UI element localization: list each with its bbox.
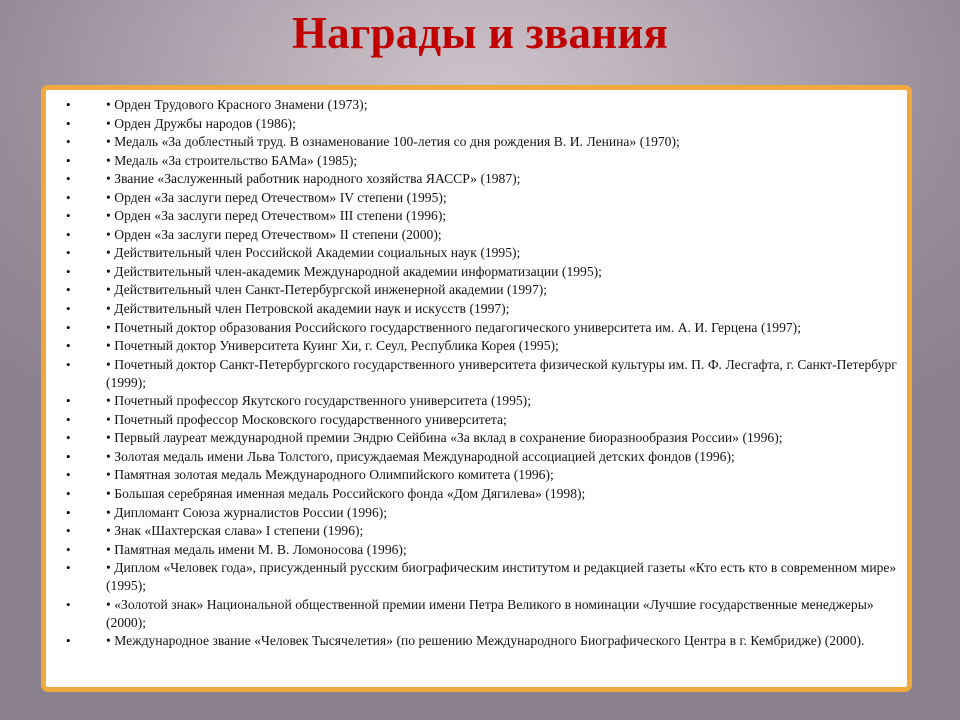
bullet-marker-icon: •: [66, 448, 76, 466]
list-item-text: • Почетный доктор Санкт-Петербургского г…: [106, 356, 901, 392]
list-item-text: • Орден Дружбы народов (1986);: [106, 115, 901, 133]
bullet-marker-icon: •: [66, 319, 76, 337]
list-item-text: • Орден «За заслуги перед Отечеством» II…: [106, 226, 901, 244]
bullet-marker-icon: •: [66, 281, 76, 299]
list-item: •• Памятная медаль имени М. В. Ломоносов…: [54, 541, 901, 559]
list-item-text: • Диплом «Человек года», присужденный ру…: [106, 559, 901, 595]
list-item-text: • Действительный член Санкт-Петербургско…: [106, 281, 901, 299]
bullet-marker-icon: •: [66, 152, 76, 170]
bullet-marker-icon: •: [66, 466, 76, 484]
list-item: •• Медаль «За строительство БАМа» (1985)…: [54, 152, 901, 170]
list-item: •• Действительный член Российской Академ…: [54, 244, 901, 262]
list-item: •• Действительный член-академик Междунар…: [54, 263, 901, 281]
bullet-marker-icon: •: [66, 263, 76, 281]
list-item-text: • Орден «За заслуги перед Отечеством» II…: [106, 207, 901, 225]
list-item-text: • Золотая медаль имени Льва Толстого, пр…: [106, 448, 901, 466]
bullet-marker-icon: •: [66, 189, 76, 207]
list-item: •• Большая серебряная именная медаль Рос…: [54, 485, 901, 503]
list-item: •• Дипломант Союза журналистов России (1…: [54, 504, 901, 522]
list-item-text: • Действительный член Петровской академи…: [106, 300, 901, 318]
bullet-marker-icon: •: [66, 504, 76, 522]
bullet-marker-icon: •: [66, 244, 76, 262]
list-item: •• Орден Дружбы народов (1986);: [54, 115, 901, 133]
bullet-marker-icon: •: [66, 300, 76, 318]
list-item: •• Орден «За заслуги перед Отечеством» I…: [54, 207, 901, 225]
bullet-marker-icon: •: [66, 632, 76, 650]
list-item: •• «Золотой знак» Национальной обществен…: [54, 596, 901, 632]
list-item: •• Памятная золотая медаль Международног…: [54, 466, 901, 484]
list-item-text: • Дипломант Союза журналистов России (19…: [106, 504, 901, 522]
bullet-marker-icon: •: [66, 411, 76, 429]
list-item: •• Диплом «Человек года», присужденный р…: [54, 559, 901, 595]
list-item: •• Знак «Шахтерская слава» I степени (19…: [54, 522, 901, 540]
bullet-marker-icon: •: [66, 170, 76, 188]
list-item: •• Первый лауреат международной премии Э…: [54, 429, 901, 447]
list-item: •• Звание «Заслуженный работник народног…: [54, 170, 901, 188]
list-item-text: • Почетный доктор образования Российског…: [106, 319, 901, 337]
list-item-text: • Медаль «За доблестный труд. В ознамено…: [106, 133, 901, 151]
list-item-text: • Международное звание «Человек Тысячеле…: [106, 632, 901, 650]
list-item-text: • Почетный профессор Московского государ…: [106, 411, 901, 429]
list-item-text: • Орден Трудового Красного Знамени (1973…: [106, 96, 901, 114]
list-item-text: • Звание «Заслуженный работник народного…: [106, 170, 901, 188]
list-item-text: • Памятная медаль имени М. В. Ломоносова…: [106, 541, 901, 559]
list-item: •• Золотая медаль имени Льва Толстого, п…: [54, 448, 901, 466]
list-item: •• Почетный доктор Университета Куинг Хи…: [54, 337, 901, 355]
list-item: •• Почетный профессор Якутского государс…: [54, 392, 901, 410]
bullet-marker-icon: •: [66, 133, 76, 151]
bullet-marker-icon: •: [66, 429, 76, 447]
page-title: Награды и звания: [0, 7, 960, 59]
list-item-text: • Действительный член-академик Междунаро…: [106, 263, 901, 281]
list-item: •• Орден «За заслуги перед Отечеством» I…: [54, 189, 901, 207]
bullet-marker-icon: •: [66, 596, 76, 614]
bullet-marker-icon: •: [66, 522, 76, 540]
list-item: •• Действительный член Санкт-Петербургск…: [54, 281, 901, 299]
bullet-marker-icon: •: [66, 356, 76, 374]
list-item: •• Почетный доктор Санкт-Петербургского …: [54, 356, 901, 392]
list-item: •• Почетный профессор Московского госуда…: [54, 411, 901, 429]
list-item: •• Медаль «За доблестный труд. В ознамен…: [54, 133, 901, 151]
list-item: •• Международное звание «Человек Тысячел…: [54, 632, 901, 650]
list-item-text: • Медаль «За строительство БАМа» (1985);: [106, 152, 901, 170]
list-item-text: • Большая серебряная именная медаль Росс…: [106, 485, 901, 503]
list-item: •• Орден «За заслуги перед Отечеством» I…: [54, 226, 901, 244]
list-item-text: • Действительный член Российской Академи…: [106, 244, 901, 262]
bullet-marker-icon: •: [66, 541, 76, 559]
list-item: •• Почетный доктор образования Российско…: [54, 319, 901, 337]
list-item: •• Орден Трудового Красного Знамени (197…: [54, 96, 901, 114]
bullet-marker-icon: •: [66, 559, 76, 577]
list-item-text: • Первый лауреат международной премии Эн…: [106, 429, 901, 447]
list-item-text: • Орден «За заслуги перед Отечеством» IV…: [106, 189, 901, 207]
list-item-text: • Почетный доктор Университета Куинг Хи,…: [106, 337, 901, 355]
list-item-text: • Почетный профессор Якутского государст…: [106, 392, 901, 410]
bullet-marker-icon: •: [66, 485, 76, 503]
list-item-text: • Памятная золотая медаль Международного…: [106, 466, 901, 484]
bullet-marker-icon: •: [66, 392, 76, 410]
bullet-marker-icon: •: [66, 337, 76, 355]
bullet-marker-icon: •: [66, 226, 76, 244]
bullet-marker-icon: •: [66, 96, 76, 114]
list-item: •• Действительный член Петровской академ…: [54, 300, 901, 318]
bullet-marker-icon: •: [66, 115, 76, 133]
awards-list: •• Орден Трудового Красного Знамени (197…: [46, 90, 907, 650]
slide: Награды и звания •• Орден Трудового Крас…: [0, 0, 960, 720]
list-item-text: • «Золотой знак» Национальной общественн…: [106, 596, 901, 632]
bullet-marker-icon: •: [66, 207, 76, 225]
content-frame: •• Орден Трудового Красного Знамени (197…: [41, 85, 912, 692]
list-item-text: • Знак «Шахтерская слава» I степени (199…: [106, 522, 901, 540]
